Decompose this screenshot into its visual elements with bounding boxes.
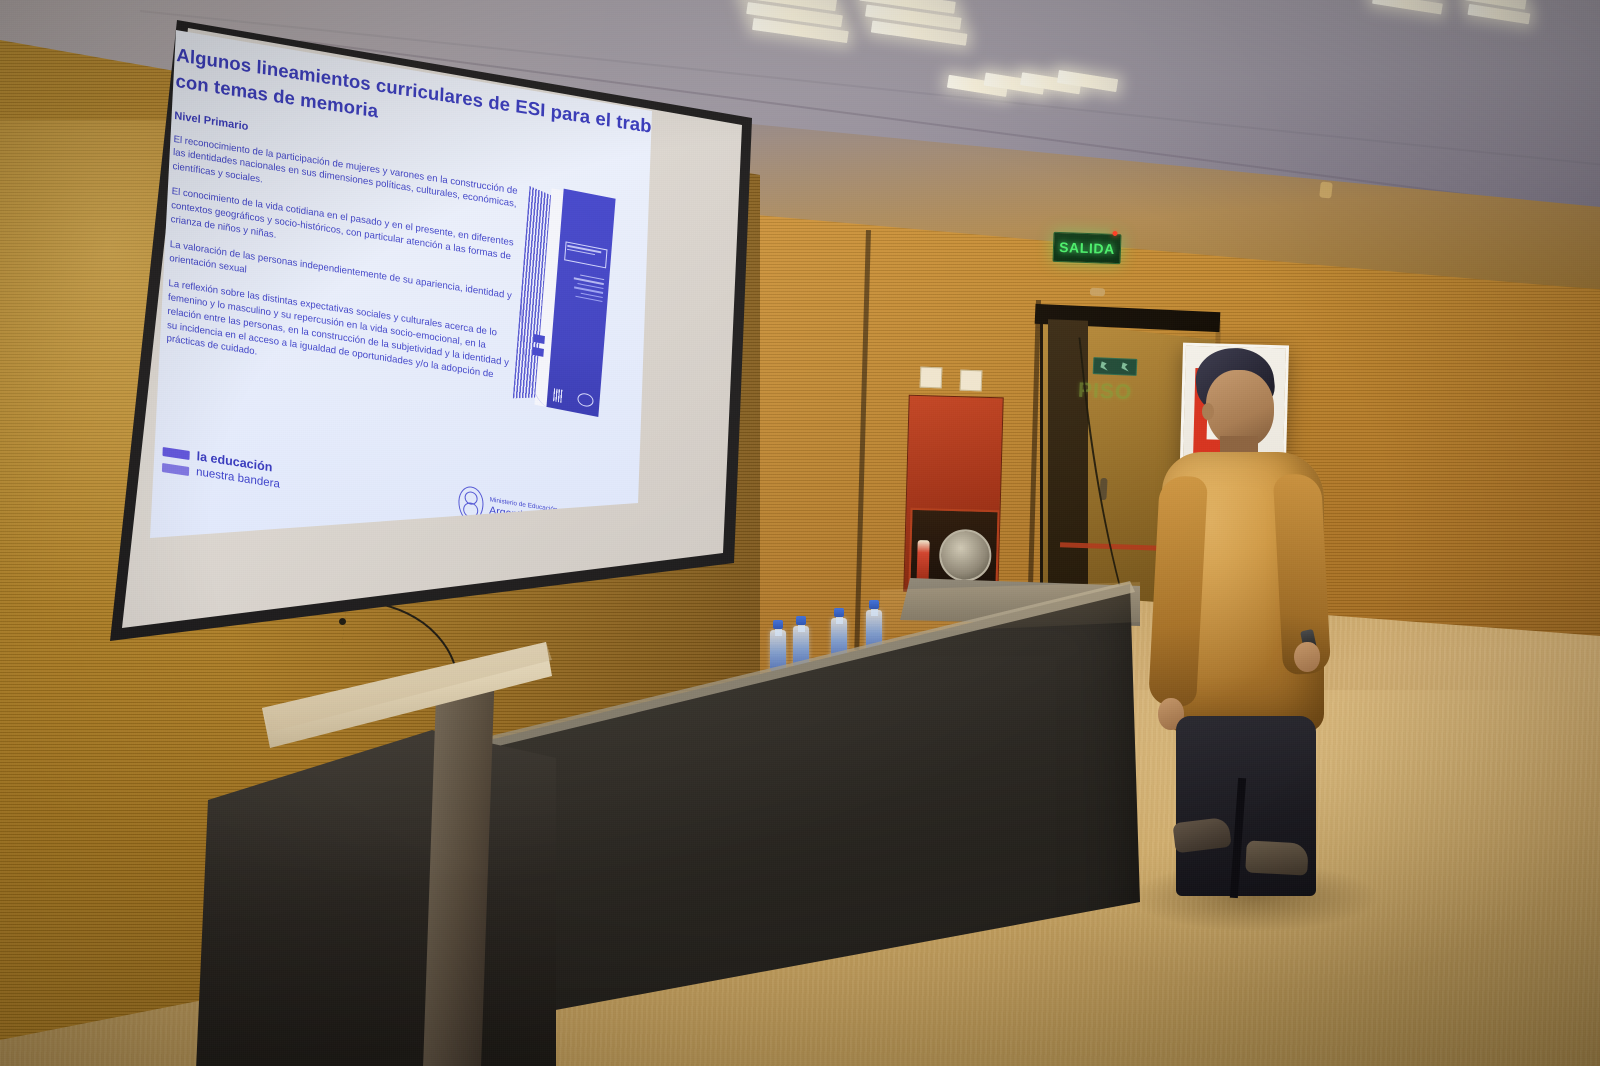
fire-extinguisher-icon bbox=[917, 540, 930, 582]
slide-book-cover-image bbox=[512, 182, 615, 419]
microphone-capsule-icon bbox=[339, 618, 346, 625]
slide-footer: la educación nuestra bandera bbox=[162, 444, 463, 521]
footer-bar-icon bbox=[162, 462, 189, 475]
presentation-room-photo: SALIDA PISO bbox=[0, 0, 1600, 1066]
footer-bar-icon bbox=[162, 446, 189, 459]
wall-switch-plate[interactable] bbox=[920, 367, 943, 389]
water-bottle[interactable] bbox=[770, 620, 786, 672]
smoke-detector-icon bbox=[1090, 288, 1105, 297]
bottle-cap-icon bbox=[773, 620, 783, 629]
book-subtitle-lines bbox=[570, 273, 604, 305]
bottle-cap-icon bbox=[796, 616, 806, 625]
book-side-tabs bbox=[532, 334, 545, 362]
exit-sign-salida: SALIDA bbox=[1052, 232, 1121, 264]
bottle-cap-icon bbox=[869, 600, 879, 609]
indicator-led-icon bbox=[1112, 231, 1117, 236]
exit-sign-label: SALIDA bbox=[1059, 239, 1115, 257]
fire-hose-cabinet bbox=[903, 395, 1003, 595]
presenter bbox=[1150, 348, 1360, 888]
wall-spotlight-icon bbox=[1319, 181, 1333, 198]
presenter-right-shoe bbox=[1245, 840, 1309, 875]
book-ministry-emblem-icon bbox=[577, 392, 594, 408]
presenter-ear bbox=[1202, 403, 1214, 420]
presenter-right-hand bbox=[1294, 642, 1320, 672]
book-footer-logo-icon bbox=[553, 388, 563, 403]
bottle-cap-icon bbox=[834, 608, 844, 617]
hose-reel-icon bbox=[939, 529, 992, 582]
wall-switch-plate[interactable] bbox=[960, 370, 983, 392]
